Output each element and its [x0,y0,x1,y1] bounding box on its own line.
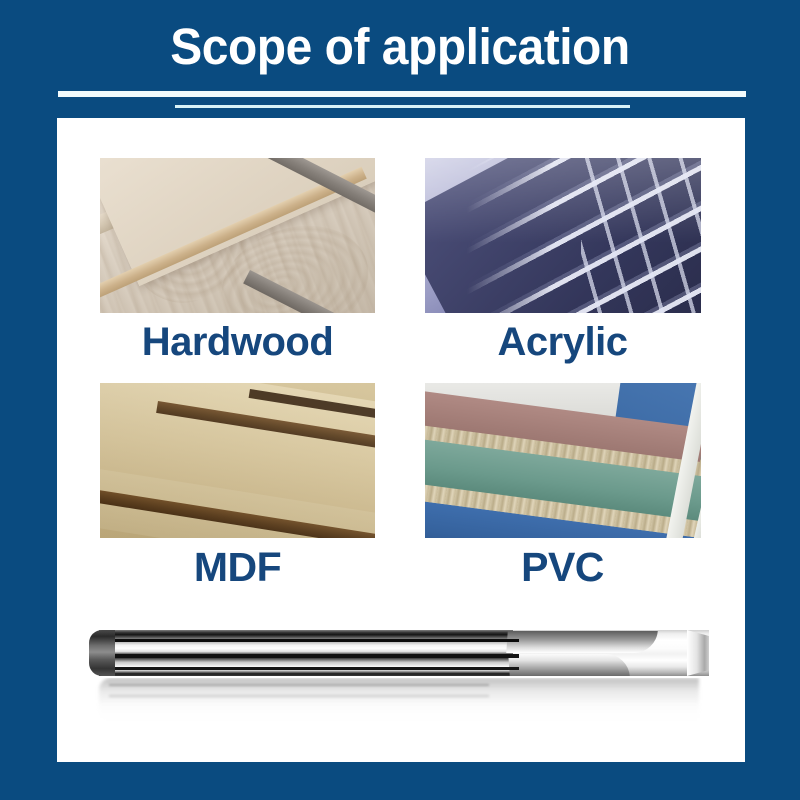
straight-router-bit-photo [57,608,745,762]
material-grid: Hardwood Acrylic [57,118,745,608]
router-bit-reflection-line-upper [109,684,489,686]
material-card-acrylic[interactable]: Acrylic [425,158,745,383]
material-card-mdf[interactable]: MDF [100,383,420,608]
router-bit-body [89,630,709,676]
divider-thick [58,91,746,97]
material-card-pvc[interactable]: PVC [425,383,745,608]
router-bit-highlight-line-middle [115,654,519,658]
acrylic-sheen [425,158,701,243]
router-bit-highlight-line-upper [115,639,519,642]
pvc-art [425,383,701,538]
router-bit-flute-lower-curve [508,654,630,676]
hardwood-boards-photo [100,158,375,313]
router-bit-flute-upper-curve [506,631,658,653]
divider-thin [175,105,630,108]
pvc-panels-photo [425,383,701,538]
router-bit-highlight-line-lower [115,667,519,670]
poster-header: Scope of application [0,0,800,118]
router-bit-reflection-line-lower [109,695,489,697]
hardwood-art [100,158,375,313]
material-label-hardwood: Hardwood [100,318,375,366]
acrylic-art [425,158,701,313]
page-title: Scope of application [24,17,776,77]
poster-root: Scope of application [0,0,800,800]
material-card-hardwood[interactable]: Hardwood [100,158,420,383]
mdf-boards-photo [100,383,375,538]
acrylic-sheets-photo [425,158,701,313]
mdf-shading [100,383,375,538]
mdf-art [100,383,375,538]
router-bit-reflection [57,678,745,738]
material-label-acrylic: Acrylic [425,318,700,366]
router-bit-shank-end [89,630,115,676]
content-panel: Hardwood Acrylic [57,118,745,762]
material-label-mdf: MDF [100,543,375,591]
material-label-pvc: PVC [425,543,700,591]
router-bit-cutting-tip [687,630,709,676]
